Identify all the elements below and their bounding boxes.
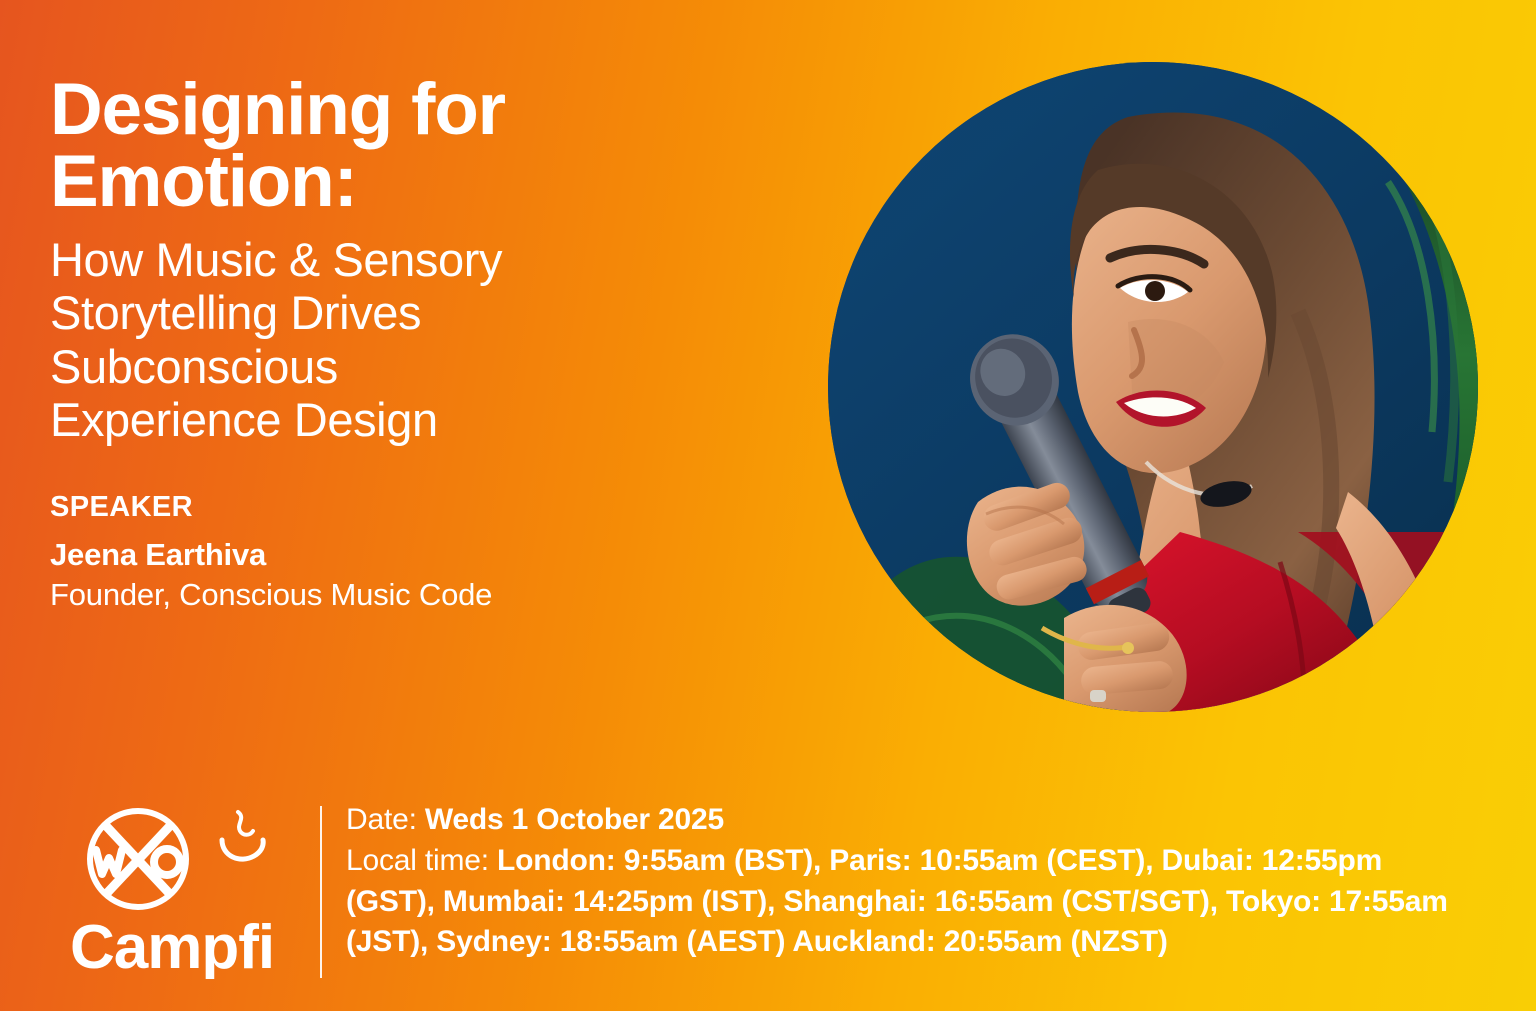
page-subtitle: How Music & Sensory Storytelling Drives … xyxy=(50,233,750,447)
speaker-role: Founder, Conscious Music Code xyxy=(50,577,750,613)
page-title: Designing for Emotion: xyxy=(50,74,750,219)
subtitle-line-2: Storytelling Drives xyxy=(50,286,750,340)
date-value: Weds 1 October 2025 xyxy=(425,803,724,836)
speaker-label: SPEAKER xyxy=(50,491,750,524)
campfire-logo-svg: Campfire xyxy=(68,804,278,979)
subtitle-line-3: Subconscious xyxy=(50,340,750,394)
speaker-block: SPEAKER Jeena Earthiva Founder, Consciou… xyxy=(50,491,750,613)
subtitle-line-1: How Music & Sensory xyxy=(50,233,750,287)
title-line-2: Emotion: xyxy=(50,146,750,218)
subtitle-line-4: Experience Design xyxy=(50,393,750,447)
local-time-label: Local time: xyxy=(346,844,489,877)
speaker-photo xyxy=(828,62,1478,712)
smoke-curl-icon xyxy=(222,812,263,859)
local-time-value: London: 9:55am (BST), Paris: 10:55am (CE… xyxy=(346,844,1448,959)
campfire-logo[interactable]: Campfire xyxy=(68,804,278,979)
hero-text-column: Designing for Emotion: How Music & Senso… xyxy=(50,74,750,613)
speaker-photo-illustration xyxy=(828,62,1478,712)
title-line-1: Designing for xyxy=(50,74,750,146)
footer: Campfire Date: Weds 1 October 2025 Local… xyxy=(0,792,1536,992)
date-label: Date: xyxy=(346,803,417,836)
wxo-logo-mark xyxy=(90,811,186,907)
event-details: Date: Weds 1 October 2025 Local time: Lo… xyxy=(346,800,1466,963)
campfire-wordmark: Campfire xyxy=(70,913,278,979)
event-localtime-row: Local time: London: 9:55am (BST), Paris:… xyxy=(346,841,1466,963)
speaker-name: Jeena Earthiva xyxy=(50,537,750,573)
event-date-row: Date: Weds 1 October 2025 xyxy=(346,800,1466,841)
event-poster: Designing for Emotion: How Music & Senso… xyxy=(0,0,1536,1011)
footer-divider xyxy=(320,806,322,978)
